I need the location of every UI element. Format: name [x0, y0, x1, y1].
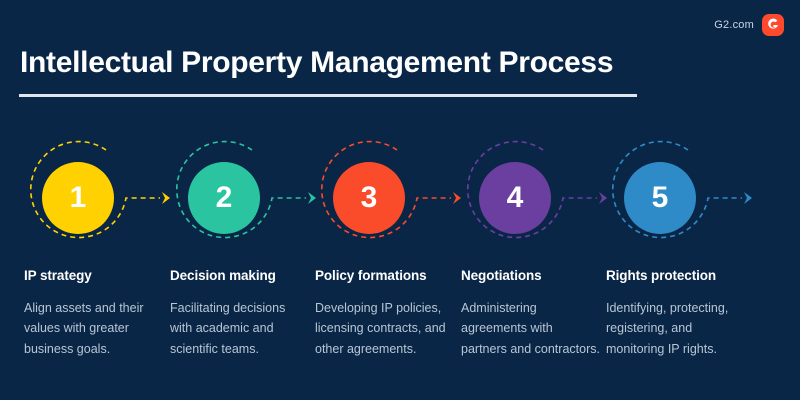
step-heading: Decision making	[170, 268, 322, 283]
step-graphic: 3	[311, 140, 457, 256]
step-number-badge: 1	[42, 162, 114, 234]
process-steps: 1IP strategyAlign assets and their value…	[0, 140, 800, 400]
step-graphic: 1	[20, 140, 166, 256]
step-graphic: 2	[166, 140, 312, 256]
step-number-label: 1	[70, 183, 87, 213]
step-description: Developing IP policies, licensing contra…	[315, 298, 455, 359]
title-divider	[19, 94, 637, 97]
step-heading: IP strategy	[24, 268, 176, 283]
step-graphic: 5	[602, 140, 748, 256]
process-step: 4NegotiationsAdministering agreements wi…	[457, 140, 603, 400]
g2-logo-icon	[762, 14, 784, 36]
process-step: 2Decision makingFacilitating decisions w…	[166, 140, 312, 400]
process-step: 3Policy formationsDeveloping IP policies…	[311, 140, 457, 400]
step-graphic: 4	[457, 140, 603, 256]
step-description: Administering agreements with partners a…	[461, 298, 601, 359]
step-heading: Policy formations	[315, 268, 467, 283]
page-title: Intellectual Property Management Process	[20, 46, 613, 80]
step-number-badge: 2	[188, 162, 260, 234]
step-number-label: 4	[507, 183, 524, 213]
step-number-badge: 4	[479, 162, 551, 234]
process-step: 5Rights protectionIdentifying, protectin…	[602, 140, 748, 400]
brand-mark: G2.com	[714, 14, 784, 36]
process-step: 1IP strategyAlign assets and their value…	[20, 140, 166, 400]
step-number-label: 5	[652, 183, 669, 213]
step-heading: Rights protection	[606, 268, 758, 283]
brand-name: G2.com	[714, 19, 754, 31]
step-description: Identifying, protecting, registering, an…	[606, 298, 746, 359]
step-heading: Negotiations	[461, 268, 613, 283]
step-description: Facilitating decisions with academic and…	[170, 298, 310, 359]
step-number-badge: 5	[624, 162, 696, 234]
step-number-label: 2	[216, 183, 233, 213]
step-description: Align assets and their values with great…	[24, 298, 164, 359]
step-number-badge: 3	[333, 162, 405, 234]
step-number-label: 3	[361, 183, 378, 213]
step-arrow-head	[744, 192, 752, 204]
